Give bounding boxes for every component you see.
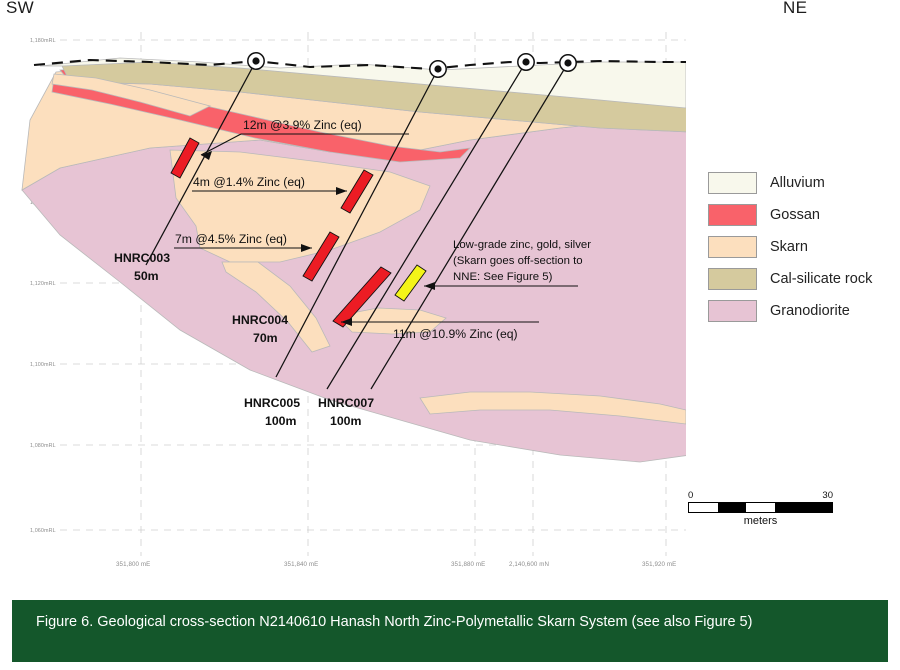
scale-bar-segment bbox=[746, 503, 775, 512]
drillhole-label-hnrc004-depth: 70m bbox=[253, 331, 278, 345]
scale-bar-segment bbox=[803, 503, 832, 512]
legend-swatch-cal-silicate-rock bbox=[708, 268, 757, 290]
rl-label: 1,120mRL bbox=[30, 281, 56, 287]
scale-bar-segment bbox=[689, 503, 718, 512]
easting-label: 351,840 mE bbox=[284, 561, 318, 568]
scale-bar: 0 30 meters bbox=[688, 490, 833, 527]
scale-bar-ticks: 0 30 bbox=[688, 490, 833, 502]
drillhole-label-hnrc005-depth: 100m bbox=[265, 414, 297, 428]
figure-caption-banner: Figure 6. Geological cross-section N2140… bbox=[12, 600, 888, 662]
intercept-label: 11m @10.9% Zinc (eq) bbox=[393, 327, 518, 341]
legend-swatch-granodiorite bbox=[708, 300, 757, 322]
intercept-label: 4m @1.4% Zinc (eq) bbox=[193, 175, 305, 189]
legend-item-gossan: Gossan bbox=[708, 200, 898, 230]
collar-marker-hnrc007 bbox=[560, 55, 576, 71]
drillhole-label-hnrc003-id: HNRC003 bbox=[114, 251, 170, 265]
collar-marker-hnrc004 bbox=[430, 61, 446, 77]
legend-item-alluvium: Alluvium bbox=[708, 168, 898, 198]
intercept-label: 12m @3.9% Zinc (eq) bbox=[243, 118, 362, 132]
intercept-label: 7m @4.5% Zinc (eq) bbox=[175, 232, 287, 246]
drillhole-label-hnrc003-depth: 50m bbox=[134, 269, 159, 283]
low-grade-note-line3: NNE: See Figure 5) bbox=[453, 271, 553, 283]
legend-item-cal-silicate-rock: Cal-silicate rock bbox=[708, 264, 898, 294]
low-grade-note-line2: (Skarn goes off-section to bbox=[453, 255, 583, 267]
easting-label: 351,800 mE bbox=[116, 561, 150, 568]
scale-bar-segment bbox=[775, 503, 804, 512]
drillhole-label-hnrc005-id: HNRC005 bbox=[244, 396, 300, 410]
legend-label-gossan: Gossan bbox=[770, 207, 820, 223]
legend-label-cal-silicate-rock: Cal-silicate rock bbox=[770, 271, 872, 287]
rl-label: 1,100mRL bbox=[30, 362, 56, 368]
scale-bar-graphic bbox=[688, 502, 833, 513]
drillhole-label-hnrc007-id: HNRC007 bbox=[318, 396, 374, 410]
rl-label: 1,180mRL bbox=[30, 38, 56, 44]
legend-swatch-gossan bbox=[708, 204, 757, 226]
easting-axis-labels: 351,800 mE 351,840 mE 351,880 mE 2,140,6… bbox=[116, 561, 676, 568]
easting-label: 351,920 mE bbox=[642, 561, 676, 568]
legend-item-skarn: Skarn bbox=[708, 232, 898, 262]
low-grade-note-line1: Low-grade zinc, gold, silver bbox=[453, 239, 591, 251]
legend-label-alluvium: Alluvium bbox=[770, 175, 825, 191]
legend-label-skarn: Skarn bbox=[770, 239, 808, 255]
legend-swatch-skarn bbox=[708, 236, 757, 258]
rl-label: 1,080mRL bbox=[30, 443, 56, 449]
rl-label: 1,060mRL bbox=[30, 528, 56, 534]
figure-caption-text: Figure 6. Geological cross-section N2140… bbox=[36, 611, 864, 633]
scale-bar-units-label: meters bbox=[688, 515, 833, 527]
drillhole-label-hnrc004-id: HNRC004 bbox=[232, 313, 288, 327]
scale-bar-min-label: 0 bbox=[688, 490, 693, 501]
drillhole-label-hnrc007-depth: 100m bbox=[330, 414, 362, 428]
northing-label: 2,140,600 mN bbox=[509, 561, 549, 568]
collar-marker-hnrc003 bbox=[248, 53, 264, 69]
scale-bar-max-label: 30 bbox=[822, 490, 833, 501]
legend-swatch-alluvium bbox=[708, 172, 757, 194]
easting-label: 351,880 mE bbox=[451, 561, 485, 568]
legend: Alluvium Gossan Skarn Cal-silicate rock … bbox=[708, 168, 898, 328]
collar-marker-hnrc005 bbox=[518, 54, 534, 70]
legend-label-granodiorite: Granodiorite bbox=[770, 303, 850, 319]
legend-item-granodiorite: Granodiorite bbox=[708, 296, 898, 326]
scale-bar-segment bbox=[718, 503, 747, 512]
